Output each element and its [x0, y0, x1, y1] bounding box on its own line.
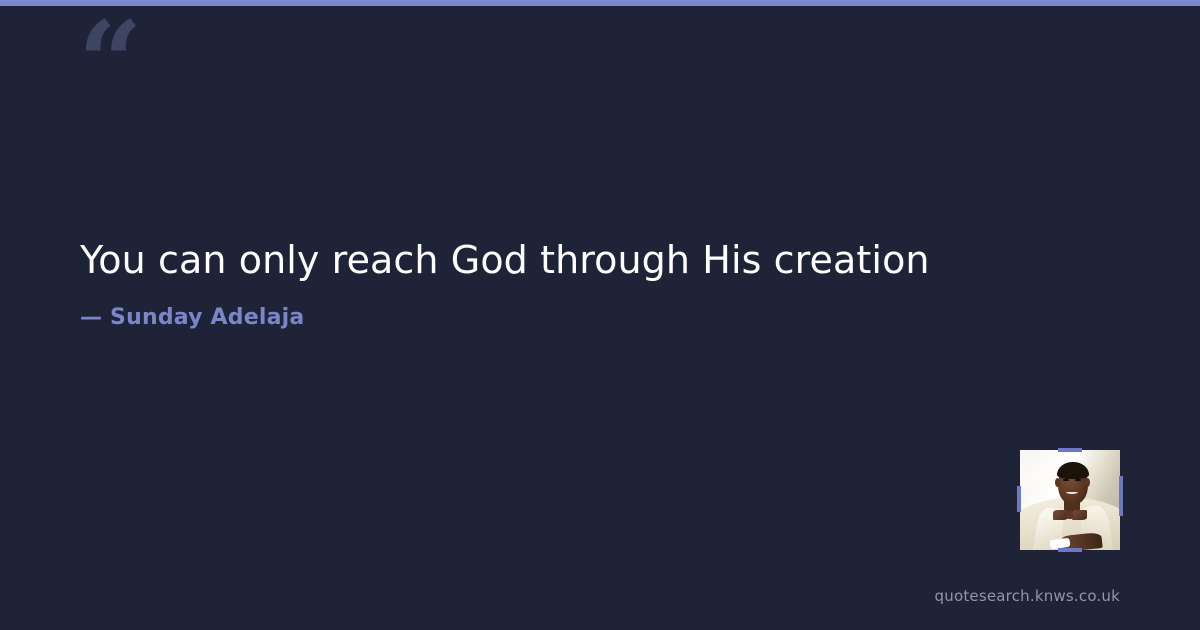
- quote-block: You can only reach God through His creat…: [80, 236, 1060, 330]
- portrait-ear-right: [1085, 478, 1090, 487]
- portrait-hair: [1057, 462, 1089, 479]
- author-portrait[interactable]: [1020, 450, 1120, 550]
- portrait-accent-right: [1119, 476, 1123, 516]
- author-portrait-image: [1020, 450, 1120, 550]
- top-accent-bar: [0, 0, 1200, 6]
- portrait-ear-left: [1055, 478, 1060, 487]
- quote-text: You can only reach God through His creat…: [80, 236, 1060, 285]
- portrait-smile: [1066, 490, 1078, 494]
- portrait-accent-top: [1058, 448, 1082, 452]
- source-url[interactable]: quotesearch.knws.co.uk: [935, 587, 1120, 605]
- portrait-accent-left: [1017, 486, 1021, 512]
- portrait-accent-bottom: [1058, 548, 1082, 552]
- portrait-bowtie-right: [1072, 510, 1087, 520]
- quote-attribution: — Sunday Adelaja: [80, 305, 1060, 330]
- quote-mark-icon: “: [78, 8, 140, 120]
- portrait-bowtie-knot: [1067, 511, 1073, 519]
- portrait-bowtie-left: [1053, 510, 1068, 520]
